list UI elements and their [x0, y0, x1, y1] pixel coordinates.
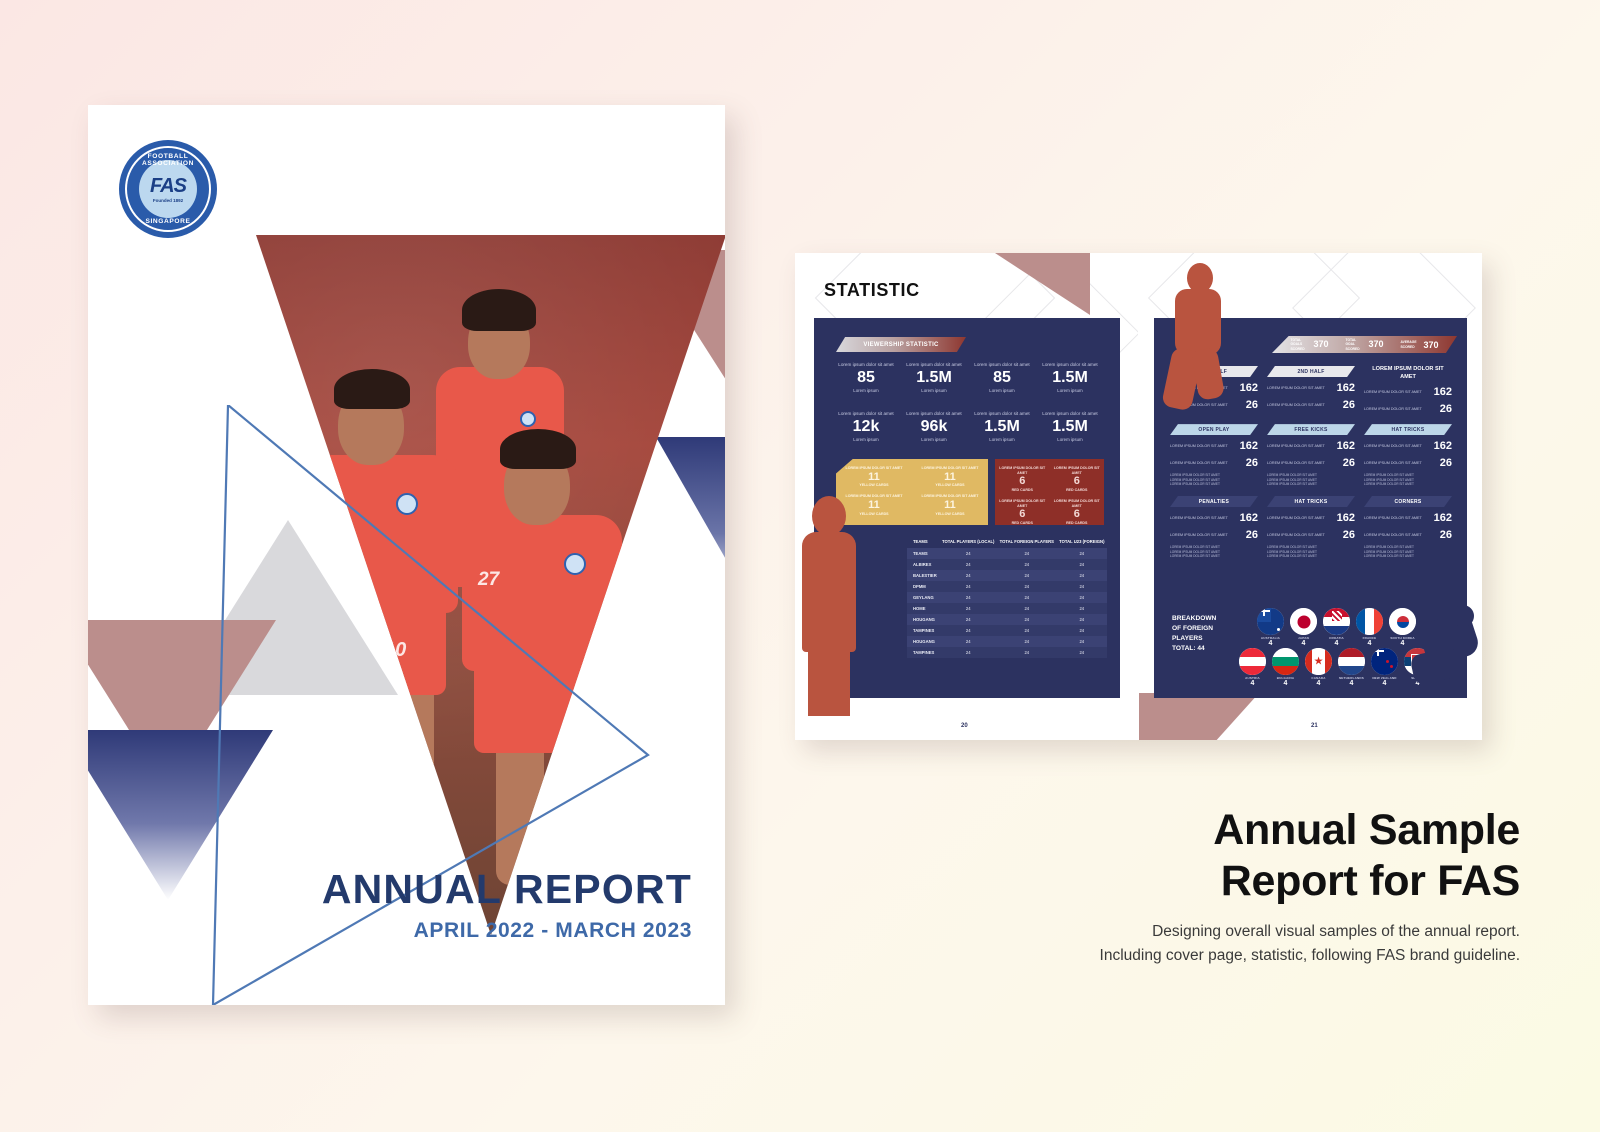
red-card-value: 6 [1050, 508, 1105, 521]
table-row: TEAMS242424 [907, 548, 1107, 559]
viewership-row-2: Lorem ipsum dolor sit amet12kLorem ipsum… [832, 411, 1104, 442]
viewership-cell: Lorem ipsum dolor sit amet12kLorem ipsum [832, 411, 900, 442]
viewership-cell: Lorem ipsum dolor sit amet85Lorem ipsum [832, 362, 900, 393]
table-row: TAMPINES242424 [907, 625, 1107, 636]
yellow-card-caption: LOREM IPSUM DOLOR SIT AMET [836, 466, 912, 471]
red-card-column: LOREM IPSUM DOLOR SIT AMET6RED CARDSLORE… [1050, 459, 1105, 525]
flag-item: JAPAN4 [1290, 608, 1317, 648]
table-column-header: TOTAL U23 (FOREIGN) [1057, 535, 1107, 548]
flag-icon [1338, 648, 1365, 675]
stat-block-tag: PENALTIES [1170, 496, 1258, 507]
viewership-cell-value: 1.5M [1036, 418, 1104, 436]
jump-leg-2 [1191, 347, 1225, 401]
stat-block-value: 26 [1246, 399, 1258, 411]
table-row: HOUGANG242424 [907, 636, 1107, 647]
stat-block-notes: LOREM IPSUM DOLOR SIT AMETLOREM IPSUM DO… [1267, 473, 1355, 487]
promo-title-line1: Annual Sample [920, 805, 1520, 856]
goals-ribbon-item: TOTAL GOALS SCORED370 [1290, 338, 1328, 350]
flag-icon [1290, 608, 1317, 635]
logo-mark: FAS [150, 176, 186, 196]
table-cell: BALESTIER [907, 570, 939, 581]
flag-player-count: 4 [1323, 640, 1350, 648]
red-card-value: 6 [1050, 475, 1105, 488]
goals-ribbon-label: TOTAL GOALS SCORED [1290, 338, 1310, 350]
table-cell: 24 [1057, 625, 1107, 636]
viewership-cell: Lorem ipsum dolor sit amet1.5MLorem ipsu… [1036, 411, 1104, 442]
yellow-card-caption: LOREM IPSUM DOLOR SIT AMET [912, 466, 988, 471]
coach-legs [808, 646, 850, 716]
viewership-cell-sub: Lorem ipsum [968, 437, 1036, 442]
table-header-row: TEAMSTOTAL PLAYERS (LOCAL)TOTAL FOREIGN … [907, 535, 1107, 548]
table-cell: 24 [939, 603, 997, 614]
logo-arc-bottom: SINGAPORE [127, 218, 209, 225]
red-card-cell: LOREM IPSUM DOLOR SIT AMET6RED CARDS [1050, 492, 1105, 525]
table-column-header: TEAMS [907, 535, 939, 548]
cover-page-mockup: FOOTBALL ASSOCIATION FAS Founded 1892 SI… [88, 105, 725, 1005]
flag-player-count: 4 [1305, 680, 1332, 688]
table-cell: ALBIREX [907, 559, 939, 570]
table-cell: 24 [1057, 647, 1107, 658]
stat-block-tag: HAT TRICKS [1364, 424, 1452, 435]
stat-block-label: LOREM IPSUM DOLOR SIT AMET [1364, 516, 1422, 521]
goals-ribbon: TOTAL GOALS SCORED370TOTAL GOAL SCORED37… [1272, 336, 1457, 353]
stat-block-row: LOREM IPSUM DOLOR SIT AMET162 [1170, 512, 1258, 524]
stat-block-row: LOREM IPSUM DOLOR SIT AMET26 [1364, 457, 1452, 469]
table-cell: 24 [1057, 581, 1107, 592]
logo-arc-top: FOOTBALL ASSOCIATION [127, 153, 209, 167]
logo-inner: FAS Founded 1892 [139, 160, 197, 218]
goals-ribbon-value: 370 [1313, 339, 1328, 349]
viewership-cell-caption: Lorem ipsum dolor sit amet [900, 411, 968, 417]
breakdown-title-line: TOTAL: 44 [1172, 644, 1216, 654]
flag-player-count: 4 [1239, 680, 1266, 688]
stat-block-value: 26 [1246, 529, 1258, 541]
goals-ribbon-label: AVERAGE SCORED [1400, 340, 1420, 348]
statistic-spread-mockup: STATISTIC VIEWERSHIP STATISTIC Lorem ips… [795, 253, 1482, 740]
table-cell: 24 [997, 647, 1057, 658]
table-cell: TAMPINES [907, 647, 939, 658]
flag-player-count: 4 [1290, 640, 1317, 648]
yellow-card-column: LOREM IPSUM DOLOR SIT AMET11YELLOW CARDS… [912, 459, 988, 525]
page-number-right: 21 [1311, 723, 1318, 729]
red-card-caption: LOREM IPSUM DOLOR SIT AMET [995, 466, 1050, 475]
table-cell: 24 [1057, 614, 1107, 625]
stat-block-label: LOREM IPSUM DOLOR SIT AMET [1267, 386, 1325, 391]
stat-block: HAT TRICKSLOREM IPSUM DOLOR SIT AMET162L… [1364, 424, 1452, 487]
table-column-header: TOTAL FOREIGN PLAYERS [997, 535, 1057, 548]
flag-item: AUSTRIA4 [1239, 648, 1266, 688]
red-card-value: 6 [995, 508, 1050, 521]
viewership-cell: Lorem ipsum dolor sit amet1.5MLorem ipsu… [1036, 362, 1104, 393]
table-cell: HOUGANG [907, 614, 939, 625]
stat-block-tag: HAT TRICKS [1267, 496, 1355, 507]
yellow-card-cell: LOREM IPSUM DOLOR SIT AMET11YELLOW CARDS [836, 459, 912, 487]
stat-block-note: LOREM IPSUM DOLOR SIT AMET [1170, 482, 1258, 487]
viewership-cell-caption: Lorem ipsum dolor sit amet [900, 362, 968, 368]
flag-player-count: 4 [1257, 640, 1284, 648]
table-cell: DPMM [907, 581, 939, 592]
viewership-cell-caption: Lorem ipsum dolor sit amet [1036, 411, 1104, 417]
flag-item: BULGARIA4 [1272, 648, 1299, 688]
gk-head [1452, 605, 1474, 627]
stat-block-row: LOREM IPSUM DOLOR SIT AMET162 [1364, 512, 1452, 524]
viewership-cell-sub: Lorem ipsum [1036, 388, 1104, 393]
table-cell: 24 [939, 647, 997, 658]
stat-block-notes: LOREM IPSUM DOLOR SIT AMETLOREM IPSUM DO… [1170, 473, 1258, 487]
promo-desc-line2: Including cover page, statistic, followi… [920, 944, 1520, 968]
flag-player-count: 4 [1356, 640, 1383, 648]
table-cell: 24 [997, 614, 1057, 625]
gk-legs [1409, 646, 1462, 685]
viewership-cell-value: 12k [832, 418, 900, 436]
yellow-card-cell: LOREM IPSUM DOLOR SIT AMET11YELLOW CARDS [912, 459, 988, 487]
stat-block-label: LOREM IPSUM DOLOR SIT AMET [1267, 516, 1325, 521]
jumping-player-illustration [1161, 263, 1231, 413]
stat-block: CORNERSLOREM IPSUM DOLOR SIT AMET162LORE… [1364, 496, 1452, 559]
table-cell: 24 [997, 636, 1057, 647]
breakdown-title: BREAKDOWNOF FOREIGNPLAYERSTOTAL: 44 [1172, 614, 1216, 654]
table-cell: 24 [997, 570, 1057, 581]
player-left-hair [334, 369, 410, 409]
breakdown-title-line: BREAKDOWN [1172, 614, 1216, 624]
cover-subtitle: APRIL 2022 - MARCH 2023 [322, 919, 692, 943]
stat-block-note: LOREM IPSUM DOLOR SIT AMET [1364, 482, 1452, 487]
red-cards-panel: LOREM IPSUM DOLOR SIT AMET6RED CARDSLORE… [995, 459, 1104, 525]
table-cell: 24 [997, 559, 1057, 570]
stat-block-value: 162 [1337, 512, 1355, 524]
flag-icon [1272, 648, 1299, 675]
teams-table: TEAMSTOTAL PLAYERS (LOCAL)TOTAL FOREIGN … [907, 535, 1107, 658]
table-cell: 24 [939, 636, 997, 647]
goals-ribbon-item: TOTAL GOAL SCORED370 [1345, 338, 1383, 350]
viewership-cell: Lorem ipsum dolor sit amet96kLorem ipsum [900, 411, 968, 442]
viewership-cell-caption: Lorem ipsum dolor sit amet [832, 411, 900, 417]
teams-table-element: TEAMSTOTAL PLAYERS (LOCAL)TOTAL FOREIGN … [907, 535, 1107, 658]
stat-block-label: LOREM IPSUM DOLOR SIT AMET [1267, 403, 1325, 408]
logo-ring: FOOTBALL ASSOCIATION FAS Founded 1892 SI… [125, 146, 211, 232]
viewership-cell-sub: Lorem ipsum [968, 388, 1036, 393]
stat-block-row: LOREM IPSUM DOLOR SIT AMET26 [1267, 529, 1355, 541]
table-row: ALBIREX242424 [907, 559, 1107, 570]
yellow-card-cell: LOREM IPSUM DOLOR SIT AMET11YELLOW CARDS [912, 487, 988, 515]
stat-block-value: 162 [1240, 512, 1258, 524]
breakdown-title-line: PLAYERS [1172, 634, 1216, 644]
table-row: GEYLANG242424 [907, 592, 1107, 603]
flag-player-count: 4 [1371, 680, 1398, 688]
table-cell: 24 [939, 581, 997, 592]
table-cell: 24 [939, 559, 997, 570]
stat-block-value: 26 [1440, 529, 1452, 541]
table-cell: TAMPINES [907, 625, 939, 636]
viewership-cell: Lorem ipsum dolor sit amet1.5MLorem ipsu… [900, 362, 968, 393]
flag-item: NETHERLANDS4 [1338, 648, 1365, 688]
red-card-sub: RED CARDS [995, 521, 1050, 525]
stat-block-row: LOREM IPSUM DOLOR SIT AMET162 [1170, 440, 1258, 452]
stat-block-row: LOREM IPSUM DOLOR SIT AMET162 [1267, 440, 1355, 452]
flag-item: NEW ZEALAND4 [1371, 648, 1398, 688]
stat-block-label: LOREM IPSUM DOLOR SIT AMET [1267, 444, 1325, 449]
red-card-column: LOREM IPSUM DOLOR SIT AMET6RED CARDSLORE… [995, 459, 1050, 525]
stat-block-value: 26 [1343, 399, 1355, 411]
viewership-cell-sub: Lorem ipsum [832, 388, 900, 393]
stat-block-notes: LOREM IPSUM DOLOR SIT AMETLOREM IPSUM DO… [1364, 545, 1452, 559]
stat-block-note: LOREM IPSUM DOLOR SIT AMET [1267, 554, 1355, 559]
stat-block-row: LOREM IPSUM DOLOR SIT AMET162 [1364, 440, 1452, 452]
stat-block-label: LOREM IPSUM DOLOR SIT AMET [1170, 533, 1228, 538]
flag-icon: ★ [1305, 648, 1332, 675]
red-card-value: 6 [995, 475, 1050, 488]
logo-founded-text: Founded 1892 [153, 198, 183, 203]
stat-block-note: LOREM IPSUM DOLOR SIT AMET [1170, 554, 1258, 559]
stat-block-row: LOREM IPSUM DOLOR SIT AMET26 [1170, 457, 1258, 469]
stat-block: 2ND HALFLOREM IPSUM DOLOR SIT AMET162LOR… [1267, 366, 1355, 415]
stat-block: FREE KICKSLOREM IPSUM DOLOR SIT AMET162L… [1267, 424, 1355, 487]
cover-title-block: ANNUAL REPORT APRIL 2022 - MARCH 2023 [322, 869, 692, 943]
flag-icon [1257, 608, 1284, 635]
flag-row-2: AUSTRIA4BULGARIA4★CANADA4NETHERLANDS4NEW… [1239, 648, 1431, 688]
stat-block: PENALTIESLOREM IPSUM DOLOR SIT AMET162LO… [1170, 496, 1258, 559]
viewership-cell-sub: Lorem ipsum [1036, 437, 1104, 442]
table-cell: 24 [939, 614, 997, 625]
statistic-heading: STATISTIC [824, 280, 920, 301]
viewership-cell-caption: Lorem ipsum dolor sit amet [832, 362, 900, 368]
stat-block-row: LOREM IPSUM DOLOR SIT AMET162 [1267, 512, 1355, 524]
stat-block-row: LOREM IPSUM DOLOR SIT AMET26 [1364, 529, 1452, 541]
flag-player-count: 4 [1272, 680, 1299, 688]
stat-block-tag: 2ND HALF [1267, 366, 1355, 377]
viewership-cell-sub: Lorem ipsum [900, 388, 968, 393]
table-cell: 24 [997, 603, 1057, 614]
table-cell: 24 [939, 548, 997, 559]
table-cell: GEYLANG [907, 592, 939, 603]
table-cell: 24 [1057, 548, 1107, 559]
red-card-caption: LOREM IPSUM DOLOR SIT AMET [995, 499, 1050, 508]
flag-item: ★CANADA4 [1305, 648, 1332, 688]
table-row: DPMM242424 [907, 581, 1107, 592]
table-cell: 24 [939, 592, 997, 603]
flag-player-count: 4 [1338, 680, 1365, 688]
spread-page-left: STATISTIC VIEWERSHIP STATISTIC Lorem ips… [795, 253, 1138, 740]
flag-icon [1371, 648, 1398, 675]
stat-block-value: 162 [1337, 440, 1355, 452]
stat-block-note: LOREM IPSUM DOLOR SIT AMET [1364, 554, 1452, 559]
stat-block-notes: LOREM IPSUM DOLOR SIT AMETLOREM IPSUM DO… [1267, 545, 1355, 559]
table-column-header: TOTAL PLAYERS (LOCAL) [939, 535, 997, 548]
table-cell: 24 [997, 581, 1057, 592]
cards-row: LOREM IPSUM DOLOR SIT AMET11YELLOW CARDS… [836, 459, 1104, 525]
table-cell: 24 [997, 548, 1057, 559]
table-cell: TEAMS [907, 548, 939, 559]
stat-block-value: 26 [1440, 457, 1452, 469]
flag-icon [1323, 608, 1350, 635]
flag-item: AUSTRALIA4 [1257, 608, 1284, 648]
table-cell: 24 [1057, 603, 1107, 614]
stat-block-tag: FREE KICKS [1267, 424, 1355, 435]
promo-description: Designing overall visual samples of the … [920, 920, 1520, 968]
fas-logo: FOOTBALL ASSOCIATION FAS Founded 1892 SI… [119, 140, 217, 238]
table-cell: 24 [1057, 570, 1107, 581]
table-cell: HOUGANG [907, 636, 939, 647]
red-card-caption: LOREM IPSUM DOLOR SIT AMET [1050, 499, 1105, 508]
table-cell: HOME [907, 603, 939, 614]
goals-ribbon-label: TOTAL GOAL SCORED [1345, 338, 1365, 350]
stat-block-value: 162 [1434, 440, 1452, 452]
viewership-cell-caption: Lorem ipsum dolor sit amet [968, 411, 1036, 417]
table-cell: 24 [939, 570, 997, 581]
flag-row-1: AUSTRALIA4JAPAN4CROATIA4FRANCE4SOUTH KOR… [1257, 608, 1416, 648]
promo-title-line2: Report for FAS [920, 856, 1520, 907]
stat-block: HAT TRICKSLOREM IPSUM DOLOR SIT AMET162L… [1267, 496, 1355, 559]
stat-block-value: 26 [1343, 529, 1355, 541]
stat-block-value: 162 [1240, 440, 1258, 452]
viewership-cell: Lorem ipsum dolor sit amet85Lorem ipsum [968, 362, 1036, 393]
viewership-cell-caption: Lorem ipsum dolor sit amet [968, 362, 1036, 368]
viewership-cell: Lorem ipsum dolor sit amet1.5MLorem ipsu… [968, 411, 1036, 442]
stat-block-tag: OPEN PLAY [1170, 424, 1258, 435]
viewership-cell-value: 1.5M [1036, 369, 1104, 387]
flag-icon [1239, 648, 1266, 675]
coach-head [812, 496, 846, 536]
stat-block-label: LOREM IPSUM DOLOR SIT AMET [1364, 407, 1422, 412]
viewership-cell-caption: Lorem ipsum dolor sit amet [1036, 362, 1104, 368]
flag-item: CROATIA4 [1323, 608, 1350, 648]
stat-block-row: LOREM IPSUM DOLOR SIT AMET162 [1267, 382, 1355, 394]
page-title: ANNUAL REPORT [322, 869, 692, 910]
stat-block-label: LOREM IPSUM DOLOR SIT AMET [1364, 390, 1422, 395]
viewership-cell-value: 1.5M [900, 369, 968, 387]
stat-block-label: LOREM IPSUM DOLOR SIT AMET [1267, 533, 1325, 538]
viewership-cell-value: 85 [968, 369, 1036, 387]
stat-block: LOREM IPSUM DOLOR SIT AMETLOREM IPSUM DO… [1364, 366, 1452, 415]
stat-block-value: 162 [1240, 382, 1258, 394]
stat-block-row: LOREM IPSUM DOLOR SIT AMET162 [1364, 386, 1452, 398]
red-card-cell: LOREM IPSUM DOLOR SIT AMET6RED CARDS [1050, 459, 1105, 492]
jump-body [1175, 289, 1221, 355]
teams-table-head: TEAMSTOTAL PLAYERS (LOCAL)TOTAL FOREIGN … [907, 535, 1107, 548]
stat-block-label: LOREM IPSUM DOLOR SIT AMET [1364, 461, 1422, 466]
stat-block-row: LOREM IPSUM DOLOR SIT AMET26 [1364, 403, 1452, 415]
stat-block-tag: CORNERS [1364, 496, 1452, 507]
stat-block-note: LOREM IPSUM DOLOR SIT AMET [1267, 482, 1355, 487]
coach-illustration [798, 496, 860, 716]
stat-block: OPEN PLAYLOREM IPSUM DOLOR SIT AMET162LO… [1170, 424, 1258, 487]
stat-block-row: LOREM IPSUM DOLOR SIT AMET26 [1267, 399, 1355, 411]
table-cell: 24 [1057, 636, 1107, 647]
yellow-card-value: 11 [912, 471, 988, 484]
yellow-card-value: 11 [836, 471, 912, 484]
flag-icon [1356, 608, 1383, 635]
red-card-caption: LOREM IPSUM DOLOR SIT AMET [1050, 466, 1105, 475]
viewership-ribbon-label: VIEWERSHIP STATISTIC [863, 342, 938, 348]
viewership-cell-sub: Lorem ipsum [900, 437, 968, 442]
table-row: HOME242424 [907, 603, 1107, 614]
table-cell: 24 [997, 625, 1057, 636]
red-card-cell: LOREM IPSUM DOLOR SIT AMET6RED CARDS [995, 492, 1050, 525]
goalkeeper-illustration [1406, 603, 1480, 693]
page-number-left: 20 [961, 723, 968, 729]
stat-block-label: LOREM IPSUM DOLOR SIT AMET [1170, 461, 1228, 466]
viewership-ribbon: VIEWERSHIP STATISTIC [836, 337, 966, 352]
coach-body [802, 532, 856, 652]
stat-block-label: LOREM IPSUM DOLOR SIT AMET [1364, 444, 1422, 449]
stat-block-label: LOREM IPSUM DOLOR SIT AMET [1364, 533, 1422, 538]
viewership-cell-sub: Lorem ipsum [832, 437, 900, 442]
stat-block-label: LOREM IPSUM DOLOR SIT AMET [1170, 444, 1228, 449]
player-back-hair [462, 289, 536, 331]
stat-block-value: 162 [1434, 512, 1452, 524]
red-card-sub: RED CARDS [1050, 521, 1105, 525]
promo-title: Annual Sample Report for FAS [920, 805, 1520, 906]
table-cell: 24 [939, 625, 997, 636]
table-row: BALESTIER242424 [907, 570, 1107, 581]
stat-block-value: 162 [1434, 386, 1452, 398]
stat-block-row: LOREM IPSUM DOLOR SIT AMET26 [1267, 457, 1355, 469]
stat-block-notes: LOREM IPSUM DOLOR SIT AMETLOREM IPSUM DO… [1364, 473, 1452, 487]
flag-item: FRANCE4 [1356, 608, 1383, 648]
stat-block-value: 162 [1337, 382, 1355, 394]
stat-block-value: 26 [1440, 403, 1452, 415]
red-card-cell: LOREM IPSUM DOLOR SIT AMET6RED CARDS [995, 459, 1050, 492]
spread-page-right: TOTAL GOALS SCORED370TOTAL GOAL SCORED37… [1139, 253, 1482, 740]
stat-block-title: LOREM IPSUM DOLOR SIT AMET [1364, 366, 1452, 381]
table-row: HOUGANG242424 [907, 614, 1107, 625]
table-row: TAMPINES242424 [907, 647, 1107, 658]
goals-ribbon-value: 370 [1368, 339, 1383, 349]
stat-block-value: 26 [1246, 457, 1258, 469]
table-cell: 24 [1057, 559, 1107, 570]
viewership-cell-value: 1.5M [968, 418, 1036, 436]
table-cell: 24 [1057, 592, 1107, 603]
stat-block-label: LOREM IPSUM DOLOR SIT AMET [1170, 516, 1228, 521]
teams-table-body: TEAMS242424ALBIREX242424BALESTIER242424D… [907, 548, 1107, 658]
viewership-row-1: Lorem ipsum dolor sit amet85Lorem ipsumL… [832, 362, 1104, 393]
breakdown-title-line: OF FOREIGN [1172, 624, 1216, 634]
yellow-card-sub: YELLOW CARDS [912, 512, 988, 516]
goals-ribbon-value: 370 [1423, 340, 1438, 350]
yellow-card-value: 11 [912, 499, 988, 512]
stat-block-notes: LOREM IPSUM DOLOR SIT AMETLOREM IPSUM DO… [1170, 545, 1258, 559]
promo-text-block: Annual Sample Report for FAS Designing o… [920, 805, 1520, 969]
table-cell: 24 [997, 592, 1057, 603]
promo-desc-line1: Designing overall visual samples of the … [920, 920, 1520, 944]
viewership-cell-value: 96k [900, 418, 968, 436]
spread-rose-triangle-bottom [1139, 693, 1259, 740]
stat-block-row: LOREM IPSUM DOLOR SIT AMET26 [1170, 529, 1258, 541]
goals-ribbon-item: AVERAGE SCORED370 [1400, 340, 1438, 350]
stat-block-value: 26 [1343, 457, 1355, 469]
stat-block-label: LOREM IPSUM DOLOR SIT AMET [1267, 461, 1325, 466]
viewership-cell-value: 85 [832, 369, 900, 387]
